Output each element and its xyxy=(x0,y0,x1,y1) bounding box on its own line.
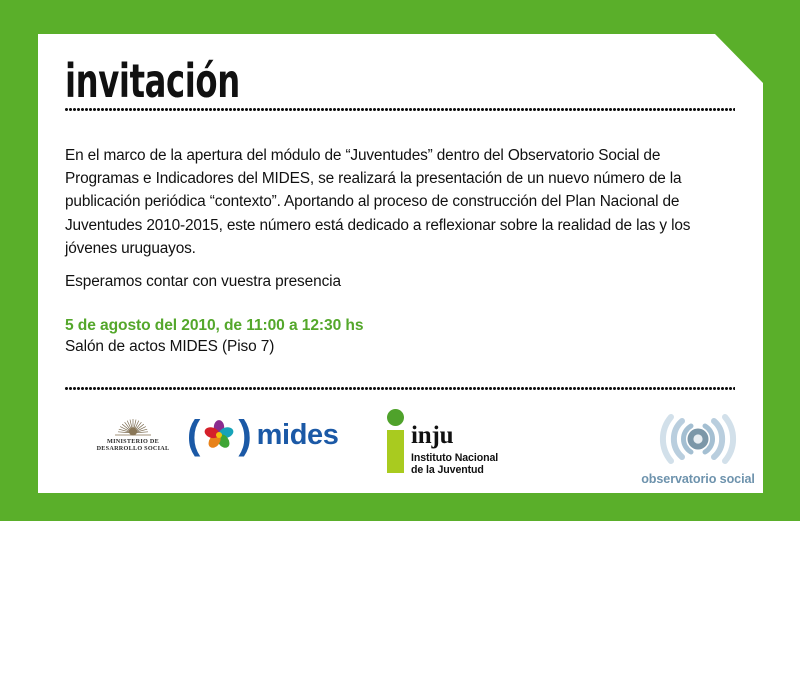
inju-i-glyph-icon xyxy=(387,409,404,473)
mides-flower-icon xyxy=(202,418,236,452)
event-date-time: 5 de agosto del 2010, de 11:00 a 12:30 h… xyxy=(65,316,363,336)
mides-logo: MINISTERIO DE DESARROLLO SOCIAL ( xyxy=(91,417,338,452)
dotted-divider-bottom xyxy=(65,387,735,390)
inju-subtitle-line-2: de la Juventud xyxy=(411,464,498,476)
ministerio-line-1: MINISTERIO DE xyxy=(91,438,175,445)
inju-subtitle-line-1: Instituto Nacional xyxy=(411,452,498,464)
inju-text-block: inju Instituto Nacional de la Juventud xyxy=(411,409,498,477)
invitation-card: invitación En el marco de la apertura de… xyxy=(38,34,763,493)
invitation-body-text: En el marco de la apertura del módulo de… xyxy=(65,144,733,260)
event-location: Salón de actos MIDES (Piso 7) xyxy=(65,337,274,357)
inju-wordmark: inju xyxy=(411,423,498,448)
ministerio-emblem-block: MINISTERIO DE DESARROLLO SOCIAL xyxy=(91,417,175,452)
card-content: invitación En el marco de la apertura de… xyxy=(65,34,737,493)
ministerio-line-2: DESARROLLO SOCIAL xyxy=(91,445,175,452)
page-title: invitación xyxy=(65,58,240,104)
invitation-page: invitación En el marco de la apertura de… xyxy=(0,0,800,679)
inju-logo: inju Instituto Nacional de la Juventud xyxy=(387,409,498,477)
inju-dot-icon xyxy=(387,409,404,426)
inju-stem-icon xyxy=(387,430,404,473)
logo-strip: MINISTERIO DE DESARROLLO SOCIAL ( xyxy=(65,409,737,489)
dotted-divider-top xyxy=(65,108,735,111)
observatorio-social-logo: observatorio social xyxy=(633,413,763,486)
observatorio-wordmark: observatorio social xyxy=(633,472,763,486)
closing-line: Esperamos contar con vuestra presencia xyxy=(65,272,341,292)
mides-wordmark: mides xyxy=(257,420,339,450)
sun-emblem-icon xyxy=(112,417,154,437)
paren-open: ( xyxy=(187,418,200,452)
broadcast-waves-icon xyxy=(651,413,745,465)
mides-wordmark-group: ( ) mides xyxy=(187,418,338,452)
paren-close: ) xyxy=(238,418,251,452)
